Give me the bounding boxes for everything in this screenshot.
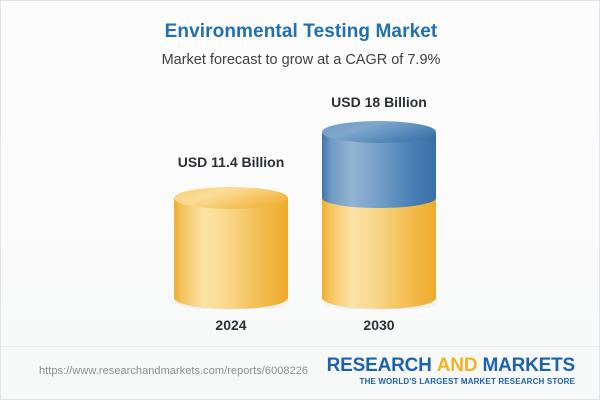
chart-plot-area: USD 11.4 Billion bbox=[1, 81, 600, 346]
bar-group-2030: USD 18 Billion bbox=[309, 81, 449, 346]
logo-tagline: THE WORLD'S LARGEST MARKET RESEARCH STOR… bbox=[327, 376, 575, 387]
footer-bar: https://www.researchandmarkets.com/repor… bbox=[1, 346, 599, 399]
logo-wordmark: RESEARCH AND MARKETS bbox=[327, 355, 575, 376]
report-url-link[interactable]: https://www.researchandmarkets.com/repor… bbox=[39, 365, 308, 377]
research-and-markets-logo[interactable]: RESEARCH AND MARKETS THE WORLD'S LARGEST… bbox=[327, 355, 575, 387]
chart-title: Environmental Testing Market bbox=[1, 21, 600, 43]
bar-value-label-2024: USD 11.4 Billion bbox=[161, 154, 301, 170]
bar-group-2024: USD 11.4 Billion bbox=[161, 81, 301, 346]
bar-value-label-2030: USD 18 Billion bbox=[309, 94, 449, 110]
category-label-2024: 2024 bbox=[161, 317, 301, 333]
logo-word-research: RESEARCH bbox=[327, 355, 432, 376]
logo-word-markets: MARKETS bbox=[482, 355, 575, 376]
cylinder-bar-2030[interactable] bbox=[322, 121, 436, 309]
infographic-card: Environmental Testing Market Market fore… bbox=[0, 0, 600, 400]
category-label-2030: 2030 bbox=[309, 317, 449, 333]
logo-word-and: AND bbox=[437, 355, 478, 376]
cylinder-bar-2024[interactable] bbox=[174, 187, 288, 309]
chart-subtitle: Market forecast to grow at a CAGR of 7.9… bbox=[1, 52, 600, 68]
